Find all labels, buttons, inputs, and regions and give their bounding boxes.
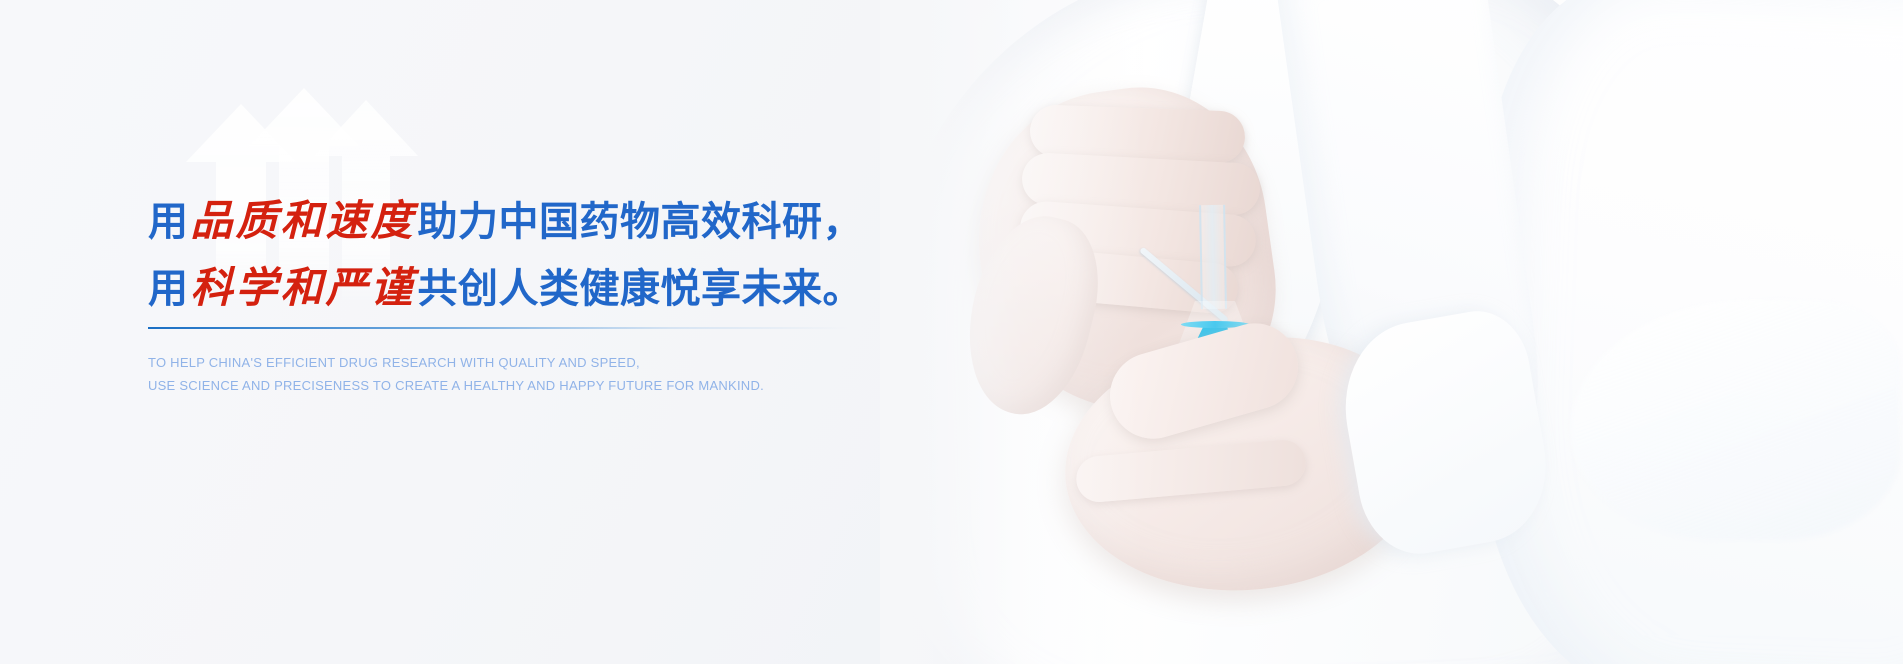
hero-banner: 用品质和速度助力中国药物高效科研， 用科学和严谨共创人类健康悦享未来。 TO H… [0, 0, 1903, 664]
headline-line-1-suffix: 助力中国药物高效科研， [418, 200, 864, 244]
headline-line-2-suffix: 共创人类健康悦享未来。 [418, 267, 864, 311]
subtitle: TO HELP CHINA'S EFFICIENT DRUG RESEARCH … [148, 351, 908, 397]
subtitle-line-2: USE SCIENCE AND PRECISENESS TO CREATE A … [148, 374, 908, 397]
headline-line-1: 用品质和速度助力中国药物高效科研， [148, 188, 908, 255]
divider [148, 327, 848, 329]
headline-line-2: 用科学和严谨共创人类健康悦享未来。 [148, 255, 908, 322]
subtitle-line-1: TO HELP CHINA'S EFFICIENT DRUG RESEARCH … [148, 351, 908, 374]
headline-line-2-accent: 科学和严谨 [189, 263, 418, 312]
photo-left-fade [880, 0, 1903, 664]
hero-photo [880, 0, 1903, 664]
headline-line-1-prefix: 用 [148, 200, 189, 244]
headline-line-2-prefix: 用 [148, 267, 189, 311]
headline: 用品质和速度助力中国药物高效科研， 用科学和严谨共创人类健康悦享未来。 [148, 188, 908, 322]
hero-text-block: 用品质和速度助力中国药物高效科研， 用科学和严谨共创人类健康悦享未来。 TO H… [148, 0, 908, 664]
headline-line-1-accent: 品质和速度 [189, 196, 418, 245]
